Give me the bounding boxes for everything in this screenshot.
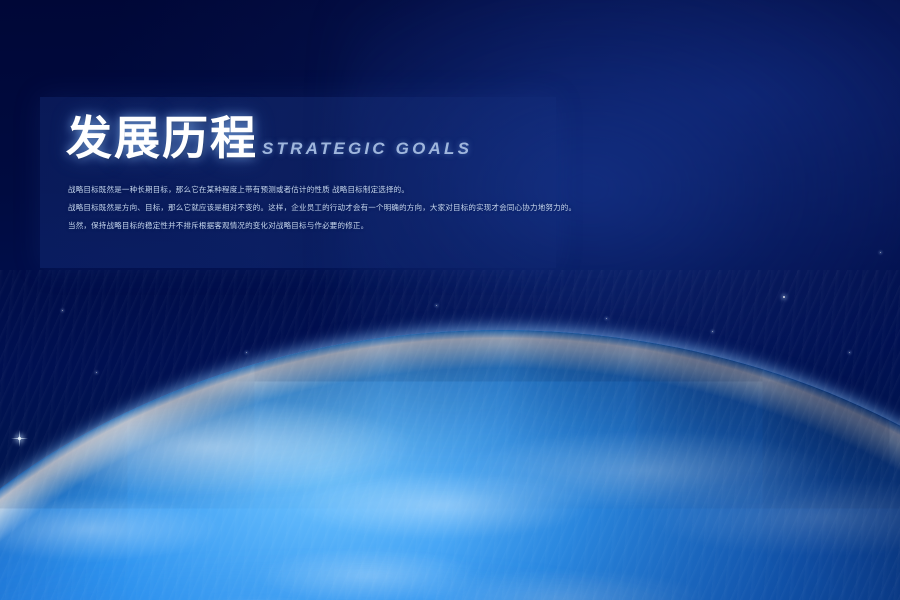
page-title: 发展历程: [66, 116, 258, 162]
banner-stage: 发展历程 STRATEGIC GOALS 战略目标既然是一种长期目标，那么它在某…: [0, 0, 900, 600]
body-paragraph: 当然，保持战略目标的稳定性并不排斥根据客观情况的变化对战略目标与作必要的修正。: [68, 219, 538, 232]
title-row: 发展历程 STRATEGIC GOALS: [66, 116, 472, 162]
body-copy: 战略目标既然是一种长期目标，那么它在某种程度上带有预测或者估计的性质 战略目标制…: [68, 183, 538, 237]
earth-terminator-shadow: [0, 330, 900, 600]
earth-globe: [0, 270, 900, 600]
body-paragraph: 战略目标既然是方向、目标，那么它就应该是相对不变的。这样，企业员工的行动才会有一…: [68, 201, 538, 214]
page-subtitle: STRATEGIC GOALS: [262, 139, 472, 162]
body-paragraph: 战略目标既然是一种长期目标，那么它在某种程度上带有预测或者估计的性质 战略目标制…: [68, 183, 538, 196]
star-icon: [880, 252, 881, 253]
content-panel: 发展历程 STRATEGIC GOALS 战略目标既然是一种长期目标，那么它在某…: [40, 97, 556, 268]
earth-surface: [0, 330, 900, 600]
